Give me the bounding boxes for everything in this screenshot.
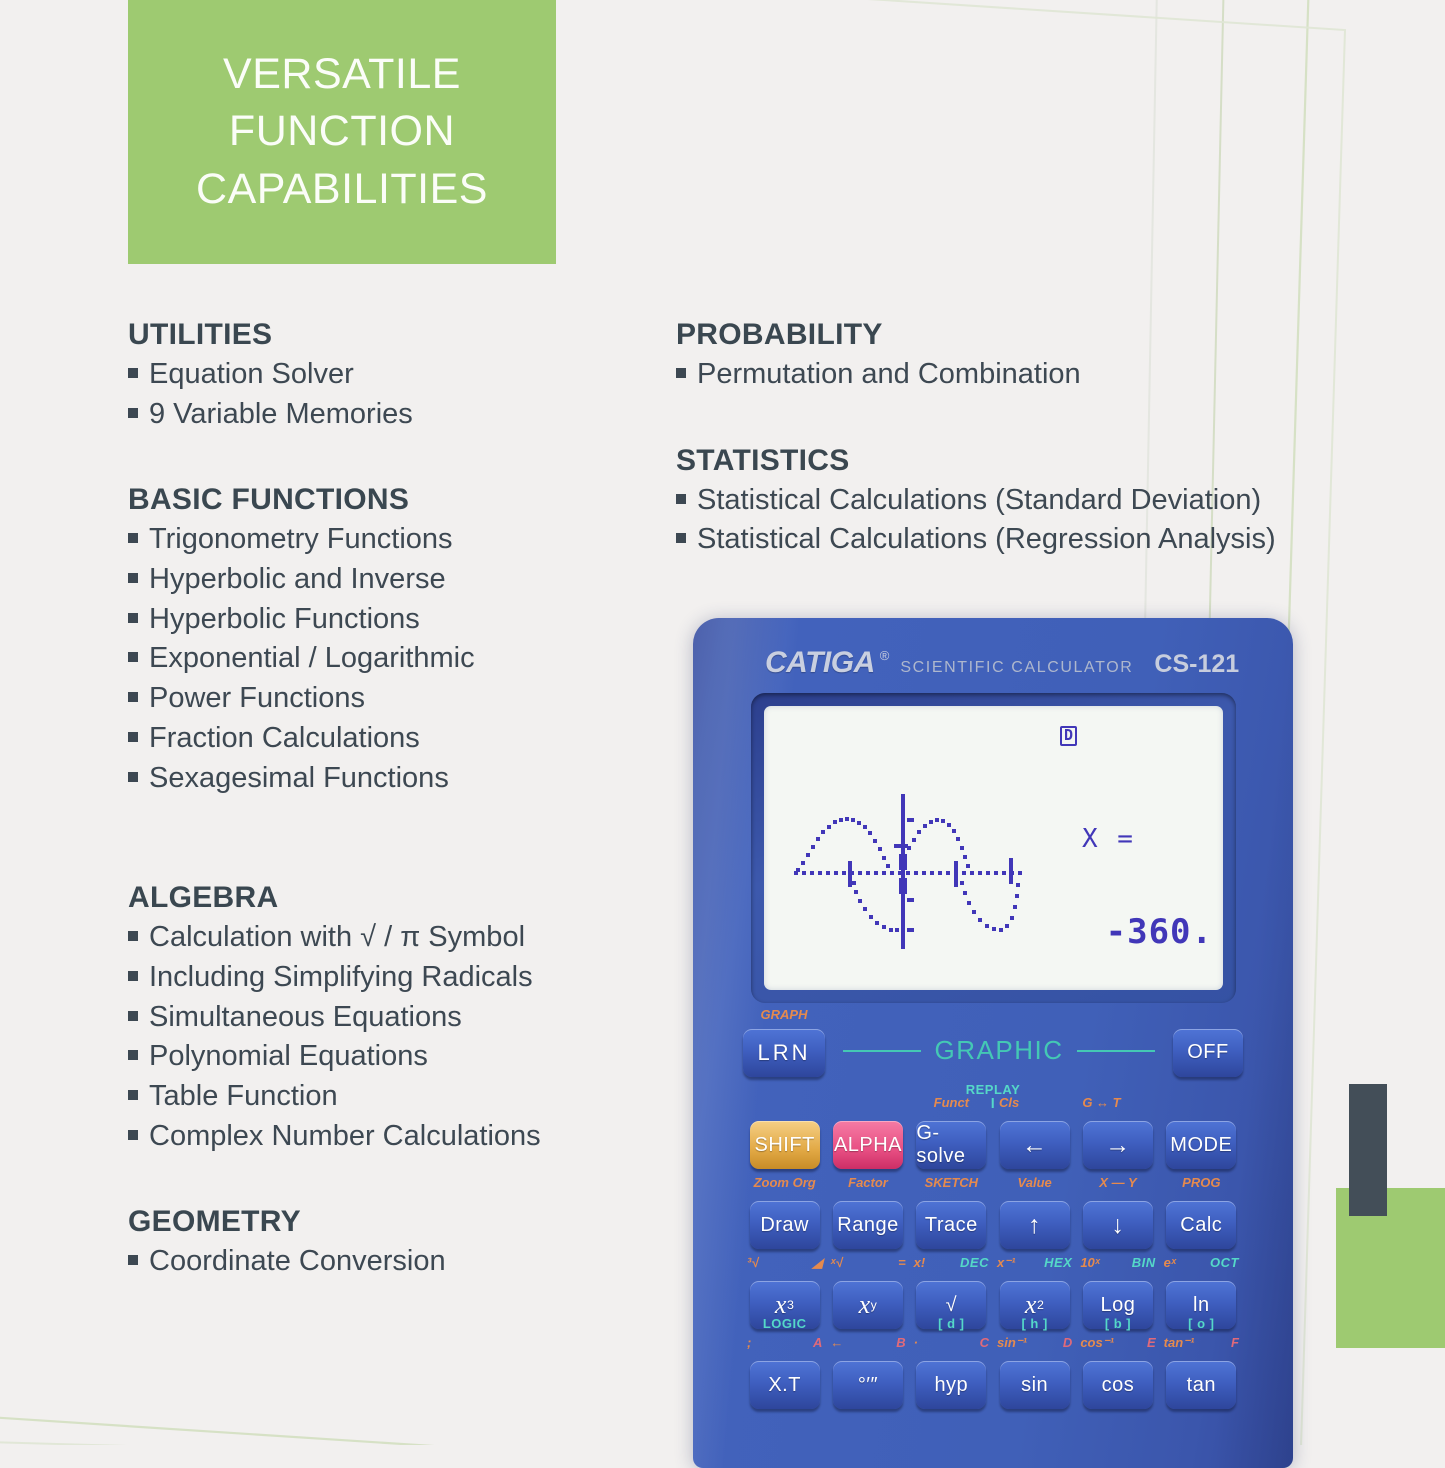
- key-cell-x-squared: x⁻¹ HEX x2: [993, 1256, 1076, 1329]
- key-cell-calc: PROG Calc: [1160, 1176, 1243, 1249]
- list-item: Polynomial Equations: [128, 1038, 668, 1076]
- key-legend-cube-root: ³√: [747, 1255, 758, 1270]
- list-item: 9 Variable Memories: [128, 396, 668, 434]
- key-legend-c: C: [980, 1335, 989, 1350]
- key-legend-oct: OCT: [1210, 1255, 1239, 1270]
- list-item-label: Complex Number Calculations: [149, 1118, 541, 1156]
- list-item-label: Power Functions: [149, 680, 365, 718]
- key-legend-bin: BIN: [1132, 1255, 1156, 1270]
- group-heading: UTILITIES: [128, 318, 668, 352]
- list-item-label: Hyperbolic Functions: [149, 601, 420, 639]
- key-mode[interactable]: MODE: [1166, 1121, 1236, 1169]
- bullet-list: Calculation with √ / π Symbol Including …: [128, 919, 668, 1155]
- key-legend-arcsin: sin⁻¹: [997, 1335, 1027, 1351]
- bullet-square-icon: [128, 1255, 138, 1265]
- key-cell-tan: [ o ] tan⁻¹ F tan: [1160, 1336, 1243, 1409]
- bullet-square-icon: [128, 1050, 138, 1060]
- list-item-label: Hyperbolic and Inverse: [149, 561, 446, 599]
- bullet-square-icon: [128, 408, 138, 418]
- slate-accent-block: [1349, 1084, 1387, 1216]
- bullet-square-icon: [128, 1011, 138, 1021]
- feature-group-probability: PROBABILITY Permutation and Combination: [676, 318, 1416, 394]
- bullet-square-icon: [676, 494, 686, 504]
- feature-group-basic-functions: BASIC FUNCTIONS Trigonometry Functions H…: [128, 483, 668, 797]
- key-legend-factor: Factor: [826, 1175, 909, 1190]
- calculator-branding: CATIGA ® SCIENTIFIC CALCULATOR CS-121: [693, 646, 1293, 680]
- list-item: Hyperbolic and Inverse: [128, 561, 668, 599]
- list-item: Permutation and Combination: [676, 356, 1416, 394]
- list-item-label: Trigonometry Functions: [149, 521, 453, 559]
- list-item: Table Function: [128, 1078, 668, 1116]
- bullet-square-icon: [676, 368, 686, 378]
- key-legend-ten-power-x: 10ˣ: [1080, 1255, 1100, 1270]
- bullet-square-icon: [128, 692, 138, 702]
- key-legend-backspace: ←: [830, 1335, 843, 1350]
- key-legend-cls: Cls: [993, 1095, 1076, 1110]
- list-item: Complex Number Calculations: [128, 1118, 668, 1156]
- key-legend-x-inverse: x⁻¹: [997, 1255, 1015, 1271]
- key-cell-hyp: [ d ] · C hyp: [910, 1336, 993, 1409]
- key-cell-left-arrow: Cls ←: [993, 1096, 1076, 1169]
- key-legend-e: E: [1147, 1335, 1156, 1350]
- group-heading: PROBABILITY: [676, 318, 1416, 352]
- key-cell-sqrt: x! DEC √: [910, 1256, 993, 1329]
- key-legend-value: Value: [993, 1175, 1076, 1190]
- registered-trademark-icon: ®: [880, 648, 890, 663]
- list-item-label: Coordinate Conversion: [149, 1243, 446, 1281]
- list-item-label: Permutation and Combination: [697, 356, 1081, 394]
- key-arrow-down[interactable]: ↓: [1083, 1201, 1153, 1249]
- key-cell-xt: LOGIC ; A X.T: [743, 1336, 826, 1409]
- calculator-product-image: CATIGA ® SCIENTIFIC CALCULATOR CS-121: [693, 618, 1293, 1468]
- list-item: Trigonometry Functions: [128, 521, 668, 559]
- bullet-square-icon: [128, 971, 138, 981]
- key-square-root[interactable]: √: [916, 1281, 986, 1329]
- key-cell-trace: SKETCH Trace: [910, 1176, 993, 1249]
- bullet-list: Coordinate Conversion: [128, 1243, 668, 1281]
- key-legend-gt: G ↔ T: [1076, 1095, 1159, 1110]
- key-cell-x-power-y: ˣ√ = xy: [826, 1256, 909, 1329]
- key-cell-ln: eˣ OCT ln: [1160, 1256, 1243, 1329]
- bullet-square-icon: [128, 1130, 138, 1140]
- arrow-right-icon: →: [1105, 1133, 1131, 1158]
- key-ln[interactable]: ln: [1166, 1281, 1236, 1329]
- key-x-squared[interactable]: x2: [1000, 1281, 1070, 1329]
- key-cell-up-arrow: Value ↑: [993, 1176, 1076, 1249]
- key-off[interactable]: OFF: [1173, 1029, 1243, 1077]
- spacer: [128, 459, 668, 483]
- list-item-label: Including Simplifying Radicals: [149, 959, 533, 997]
- list-item-label: Exponential / Logarithmic: [149, 640, 475, 678]
- key-arrow-right[interactable]: →: [1083, 1121, 1153, 1169]
- key-legend-hex: HEX: [1044, 1255, 1072, 1270]
- key-legend-b: B: [896, 1335, 905, 1350]
- header-banner: VERSATILE FUNCTION CAPABILITIES: [128, 0, 556, 264]
- list-item-label: Sexagesimal Functions: [149, 760, 449, 798]
- feature-group-statistics: STATISTICS Statistical Calculations (Sta…: [676, 444, 1416, 559]
- brand-name: CATIGA: [765, 646, 875, 680]
- key-legend-e-power-x: eˣ: [1164, 1255, 1176, 1270]
- key-range[interactable]: Range: [833, 1201, 903, 1249]
- group-heading: STATISTICS: [676, 444, 1416, 478]
- bullet-square-icon: [128, 533, 138, 543]
- bullet-square-icon: [128, 368, 138, 378]
- key-cell-mode: MODE: [1160, 1096, 1243, 1169]
- spacer: [128, 823, 668, 881]
- key-legend-equals: =: [898, 1255, 906, 1270]
- key-arrow-up[interactable]: ↑: [1000, 1201, 1070, 1249]
- group-heading: ALGEBRA: [128, 881, 668, 915]
- key-legend-prog: PROG: [1160, 1175, 1243, 1190]
- model-number: CS-121: [1154, 650, 1239, 679]
- list-item: Equation Solver: [128, 356, 668, 394]
- bullet-square-icon: [676, 533, 686, 543]
- key-log[interactable]: Log: [1083, 1281, 1153, 1329]
- lcd-value: -360.: [1106, 912, 1213, 952]
- key-legend-graph: GRAPH: [743, 1007, 825, 1022]
- key-cell-down-arrow: X — Y ↓: [1076, 1176, 1159, 1249]
- list-item: Simultaneous Equations: [128, 999, 668, 1037]
- list-item-label: Calculation with √ / π Symbol: [149, 919, 525, 957]
- key-cell-shift: SHIFT: [743, 1096, 826, 1169]
- divider-line-left: [843, 1050, 921, 1052]
- list-item-label: 9 Variable Memories: [149, 396, 413, 434]
- graphic-banner: GRAPHIC: [825, 1035, 1173, 1070]
- key-tan[interactable]: tan: [1166, 1361, 1236, 1409]
- lcd-prompt: X =: [1082, 824, 1135, 854]
- feature-column-left: UTILITIES Equation Solver 9 Variable Mem…: [128, 318, 668, 1307]
- key-cell-log: 10ˣ BIN Log: [1076, 1256, 1159, 1329]
- key-legend-a: A: [813, 1335, 822, 1350]
- key-cell-off: OFF: [1173, 1029, 1243, 1077]
- list-item: Exponential / Logarithmic: [128, 640, 668, 678]
- key-legend-arctan: tan⁻¹: [1164, 1335, 1195, 1351]
- list-item: Calculation with √ / π Symbol: [128, 919, 668, 957]
- key-shift[interactable]: SHIFT: [750, 1121, 820, 1169]
- bullet-list: Statistical Calculations (Standard Devia…: [676, 482, 1416, 559]
- feature-group-geometry: GEOMETRY Coordinate Conversion: [128, 1205, 668, 1281]
- feature-group-algebra: ALGEBRA Calculation with √ / π Symbol In…: [128, 881, 668, 1155]
- page-title: VERSATILE FUNCTION CAPABILITIES: [196, 46, 488, 218]
- replay-label: REPLAY: [966, 1082, 1021, 1097]
- bullet-list: Equation Solver 9 Variable Memories: [128, 356, 668, 433]
- key-cell-alpha: ALPHA: [826, 1096, 909, 1169]
- key-legend-factorial: x!: [914, 1255, 926, 1270]
- bullet-square-icon: [128, 613, 138, 623]
- spacer: [128, 1181, 668, 1205]
- bullet-square-icon: [128, 931, 138, 941]
- list-item-label: Equation Solver: [149, 356, 354, 394]
- arrow-down-icon: ↓: [1111, 1213, 1124, 1238]
- key-legend-funct: Funct: [910, 1095, 993, 1110]
- key-cell-lrn: GRAPH LRN: [743, 1029, 825, 1077]
- key-x-power-y[interactable]: xy: [833, 1281, 903, 1329]
- list-item-label: Simultaneous Equations: [149, 999, 462, 1037]
- list-item: Hyperbolic Functions: [128, 601, 668, 639]
- key-legend-sketch: SKETCH: [910, 1175, 993, 1190]
- arrow-left-icon: ←: [1022, 1133, 1048, 1158]
- key-draw[interactable]: Draw: [750, 1201, 820, 1249]
- bullet-square-icon: [128, 652, 138, 662]
- list-item-label: Fraction Calculations: [149, 720, 420, 758]
- keypad-row-5: LOGIC ; A X.T ← B °′″ [ d ] · C hyp [ h …: [693, 1336, 1293, 1409]
- group-heading: GEOMETRY: [128, 1205, 668, 1239]
- spacer: [676, 420, 1416, 444]
- bullet-list: Permutation and Combination: [676, 356, 1416, 394]
- bullet-list: Trigonometry Functions Hyperbolic and In…: [128, 521, 668, 797]
- key-cos[interactable]: cos: [1083, 1361, 1153, 1409]
- key-hyp[interactable]: hyp: [916, 1361, 986, 1409]
- keypad-row-2: REPLAY SHIFT ALPHA Funct G-solve Cls ← G…: [693, 1096, 1293, 1169]
- key-legend-f: F: [1231, 1335, 1239, 1350]
- key-legend-dec: DEC: [960, 1255, 989, 1270]
- list-item: Coordinate Conversion: [128, 1243, 668, 1281]
- key-cell-cos: [ b ] cos⁻¹ E cos: [1076, 1336, 1159, 1409]
- key-legend-d: D: [1063, 1335, 1072, 1350]
- key-alpha[interactable]: ALPHA: [833, 1121, 903, 1169]
- key-x-cubed[interactable]: x3: [750, 1281, 820, 1329]
- list-item: Sexagesimal Functions: [128, 760, 668, 798]
- list-item-label: Polynomial Equations: [149, 1038, 428, 1076]
- key-cell-right-arrow: G ↔ T →: [1076, 1096, 1159, 1169]
- feature-column-right: PROBABILITY Permutation and Combination …: [676, 318, 1416, 585]
- key-calc[interactable]: Calc: [1166, 1201, 1236, 1249]
- brand-subtitle: SCIENTIFIC CALCULATOR: [900, 659, 1133, 677]
- key-legend-zoom-org: Zoom Org: [743, 1175, 826, 1190]
- list-item: Statistical Calculations (Standard Devia…: [676, 482, 1416, 520]
- bullet-square-icon: [128, 1090, 138, 1100]
- list-item-label: Statistical Calculations (Standard Devia…: [697, 482, 1261, 520]
- list-item-label: Statistical Calculations (Regression Ana…: [697, 521, 1276, 559]
- key-sin[interactable]: sin: [1000, 1361, 1070, 1409]
- screen-bezel: D X = -360.: [751, 693, 1236, 1003]
- divider-line-right: [1077, 1050, 1155, 1052]
- list-item: Including Simplifying Radicals: [128, 959, 668, 997]
- bullet-square-icon: [128, 772, 138, 782]
- group-heading: BASIC FUNCTIONS: [128, 483, 668, 517]
- key-cell-range: Factor Range: [826, 1176, 909, 1249]
- list-item: Statistical Calculations (Regression Ana…: [676, 521, 1416, 559]
- list-item: Fraction Calculations: [128, 720, 668, 758]
- list-item-label: Table Function: [149, 1078, 338, 1116]
- key-legend-x-y: X — Y: [1076, 1175, 1159, 1190]
- keypad-row-3: Zoom Org Draw Factor Range SKETCH Trace …: [693, 1176, 1293, 1249]
- key-legend-dot: ·: [914, 1335, 918, 1350]
- key-cell-sin: [ h ] sin⁻¹ D sin: [993, 1336, 1076, 1409]
- list-item: Power Functions: [128, 680, 668, 718]
- keypad-row-graphic: GRAPH LRN GRAPHIC OFF: [693, 1016, 1293, 1089]
- key-cell-draw: Zoom Org Draw: [743, 1176, 826, 1249]
- graphic-banner-label: GRAPHIC: [935, 1035, 1064, 1066]
- key-legend-semicolon: ;: [747, 1335, 751, 1350]
- feature-group-utilities: UTILITIES Equation Solver 9 Variable Mem…: [128, 318, 668, 433]
- bullet-square-icon: [128, 732, 138, 742]
- arrow-up-icon: ↑: [1028, 1213, 1041, 1238]
- mode-indicator-badge: D: [1060, 726, 1077, 746]
- key-legend-xth-root: ˣ√: [830, 1255, 842, 1270]
- key-legend-arccos: cos⁻¹: [1080, 1335, 1114, 1351]
- key-g-solve[interactable]: G-solve: [916, 1121, 986, 1169]
- lcd-screen: D X = -360.: [764, 706, 1223, 990]
- key-cell-x-cubed: ³√ ◢ x3: [743, 1256, 826, 1329]
- key-lrn[interactable]: LRN: [743, 1029, 825, 1077]
- key-x-t[interactable]: X.T: [750, 1361, 820, 1409]
- key-arrow-left[interactable]: ←: [1000, 1121, 1070, 1169]
- key-degrees-minutes-seconds[interactable]: °′″: [833, 1361, 903, 1409]
- keypad-row-4: ³√ ◢ x3 ˣ√ = xy x! DEC √ x⁻¹ HEX x2 10ˣ: [693, 1256, 1293, 1329]
- key-cell-degrees: ← B °′″: [826, 1336, 909, 1409]
- bullet-square-icon: [128, 573, 138, 583]
- key-trace[interactable]: Trace: [916, 1201, 986, 1249]
- key-cell-gsolve: Funct G-solve: [910, 1096, 993, 1169]
- key-legend-angle: ◢: [812, 1255, 822, 1271]
- keypad: GRAPH LRN GRAPHIC OFF REPLAY SHIFT ALPH: [693, 1016, 1293, 1416]
